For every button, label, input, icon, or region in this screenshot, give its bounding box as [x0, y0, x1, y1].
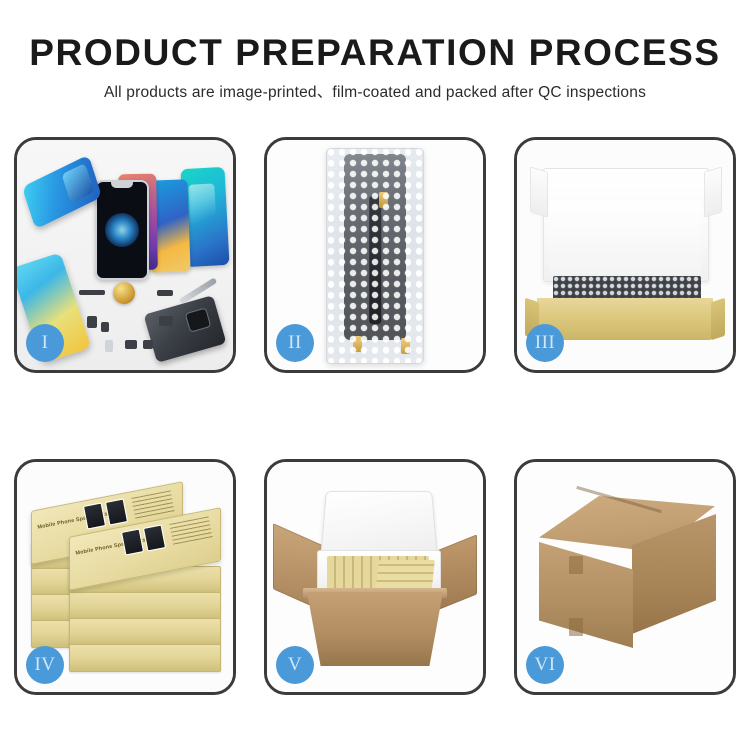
step-panel-3: III: [514, 137, 736, 373]
small-part-icon: [101, 322, 109, 332]
carton-body-icon: [307, 592, 443, 666]
step-panel-5: V: [264, 459, 486, 695]
carton-tape-icon: [569, 618, 583, 636]
stacked-box: [69, 618, 221, 646]
step-badge: I: [26, 324, 64, 362]
step-badge: V: [276, 646, 314, 684]
stacked-box: [69, 592, 221, 620]
page-title: PRODUCT PREPARATION PROCESS: [0, 34, 750, 71]
chip-grid-part-icon: [117, 310, 151, 338]
step-panel-2: II: [264, 137, 486, 373]
step-badge: IV: [26, 646, 64, 684]
step-panel-4: Mobile Phone Spare Parts Mobile Phone Sp…: [14, 459, 236, 695]
foam-sheet-icon: [549, 200, 701, 274]
page-subtitle: All products are image-printed、film-coat…: [0, 85, 750, 101]
carton-tape-icon: [569, 556, 583, 574]
gold-coil-part-icon: [113, 282, 135, 304]
gold-connector-icon: [353, 336, 362, 352]
small-part-icon: [143, 340, 153, 349]
stacked-box: [69, 644, 221, 672]
box-stack-icon: Mobile Phone Spare Parts Mobile Phone Sp…: [29, 480, 225, 670]
flex-cable-icon: [369, 196, 381, 324]
phone-backplate-icon: [144, 295, 227, 363]
gold-connector-icon: [379, 192, 388, 208]
phone-front-screen-icon: [95, 180, 149, 280]
small-part-icon: [157, 290, 173, 296]
step-badge: II: [276, 324, 314, 362]
step-panel-6: VI: [514, 459, 736, 695]
small-part-icon: [159, 316, 173, 326]
phone-blue-tilted-icon: [22, 155, 102, 230]
small-part-icon: [87, 316, 97, 328]
step-badge: VI: [526, 646, 564, 684]
small-part-icon: [125, 340, 137, 349]
kraft-box-base-icon: [537, 298, 713, 340]
gold-connector-icon: [401, 338, 410, 354]
carton-front-icon: [539, 542, 633, 648]
small-part-icon: [105, 340, 113, 352]
step-badge: III: [526, 324, 564, 362]
page-header: PRODUCT PREPARATION PROCESS All products…: [0, 0, 750, 101]
small-part-icon: [79, 290, 105, 295]
process-steps-grid: I II III: [14, 137, 736, 695]
step-panel-1: I: [14, 137, 236, 373]
